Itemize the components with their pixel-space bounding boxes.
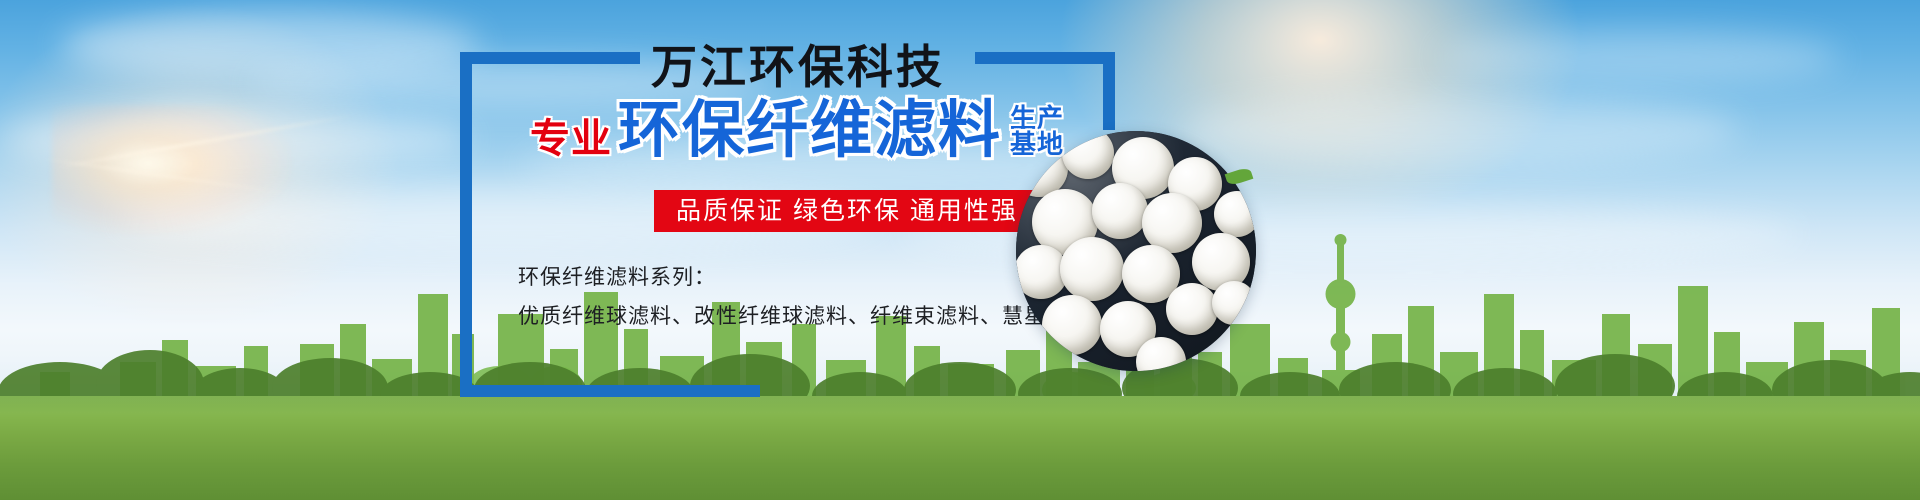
- headline-prefix: 专业: [530, 119, 612, 162]
- series-label: 环保纤维滤料系列：: [518, 261, 716, 291]
- cloud-streak: [1180, 95, 1740, 165]
- promo-banner: 万江环保科技 专业 环保纤维滤料 生产 基地 品质保证 绿色环保 通用性强 操作…: [0, 0, 1920, 500]
- frame-segment-right: [1103, 52, 1115, 130]
- product-photo: [1016, 131, 1256, 371]
- grass-field: [0, 396, 1920, 500]
- cloud-streak: [0, 110, 470, 168]
- headline-suffix-line1: 生产: [1010, 105, 1064, 132]
- company-name: 万江环保科技: [651, 44, 945, 90]
- frame-segment-top-right: [975, 52, 1115, 64]
- frame-segment-left: [460, 52, 472, 397]
- headline-core: 环保纤维滤料: [618, 100, 1002, 162]
- main-headline: 专业 环保纤维滤料 生产 基地: [530, 100, 1064, 162]
- frame-segment-bottom: [460, 385, 760, 397]
- cloud-streak: [1440, 30, 1840, 84]
- frame-segment-top-left: [460, 52, 640, 64]
